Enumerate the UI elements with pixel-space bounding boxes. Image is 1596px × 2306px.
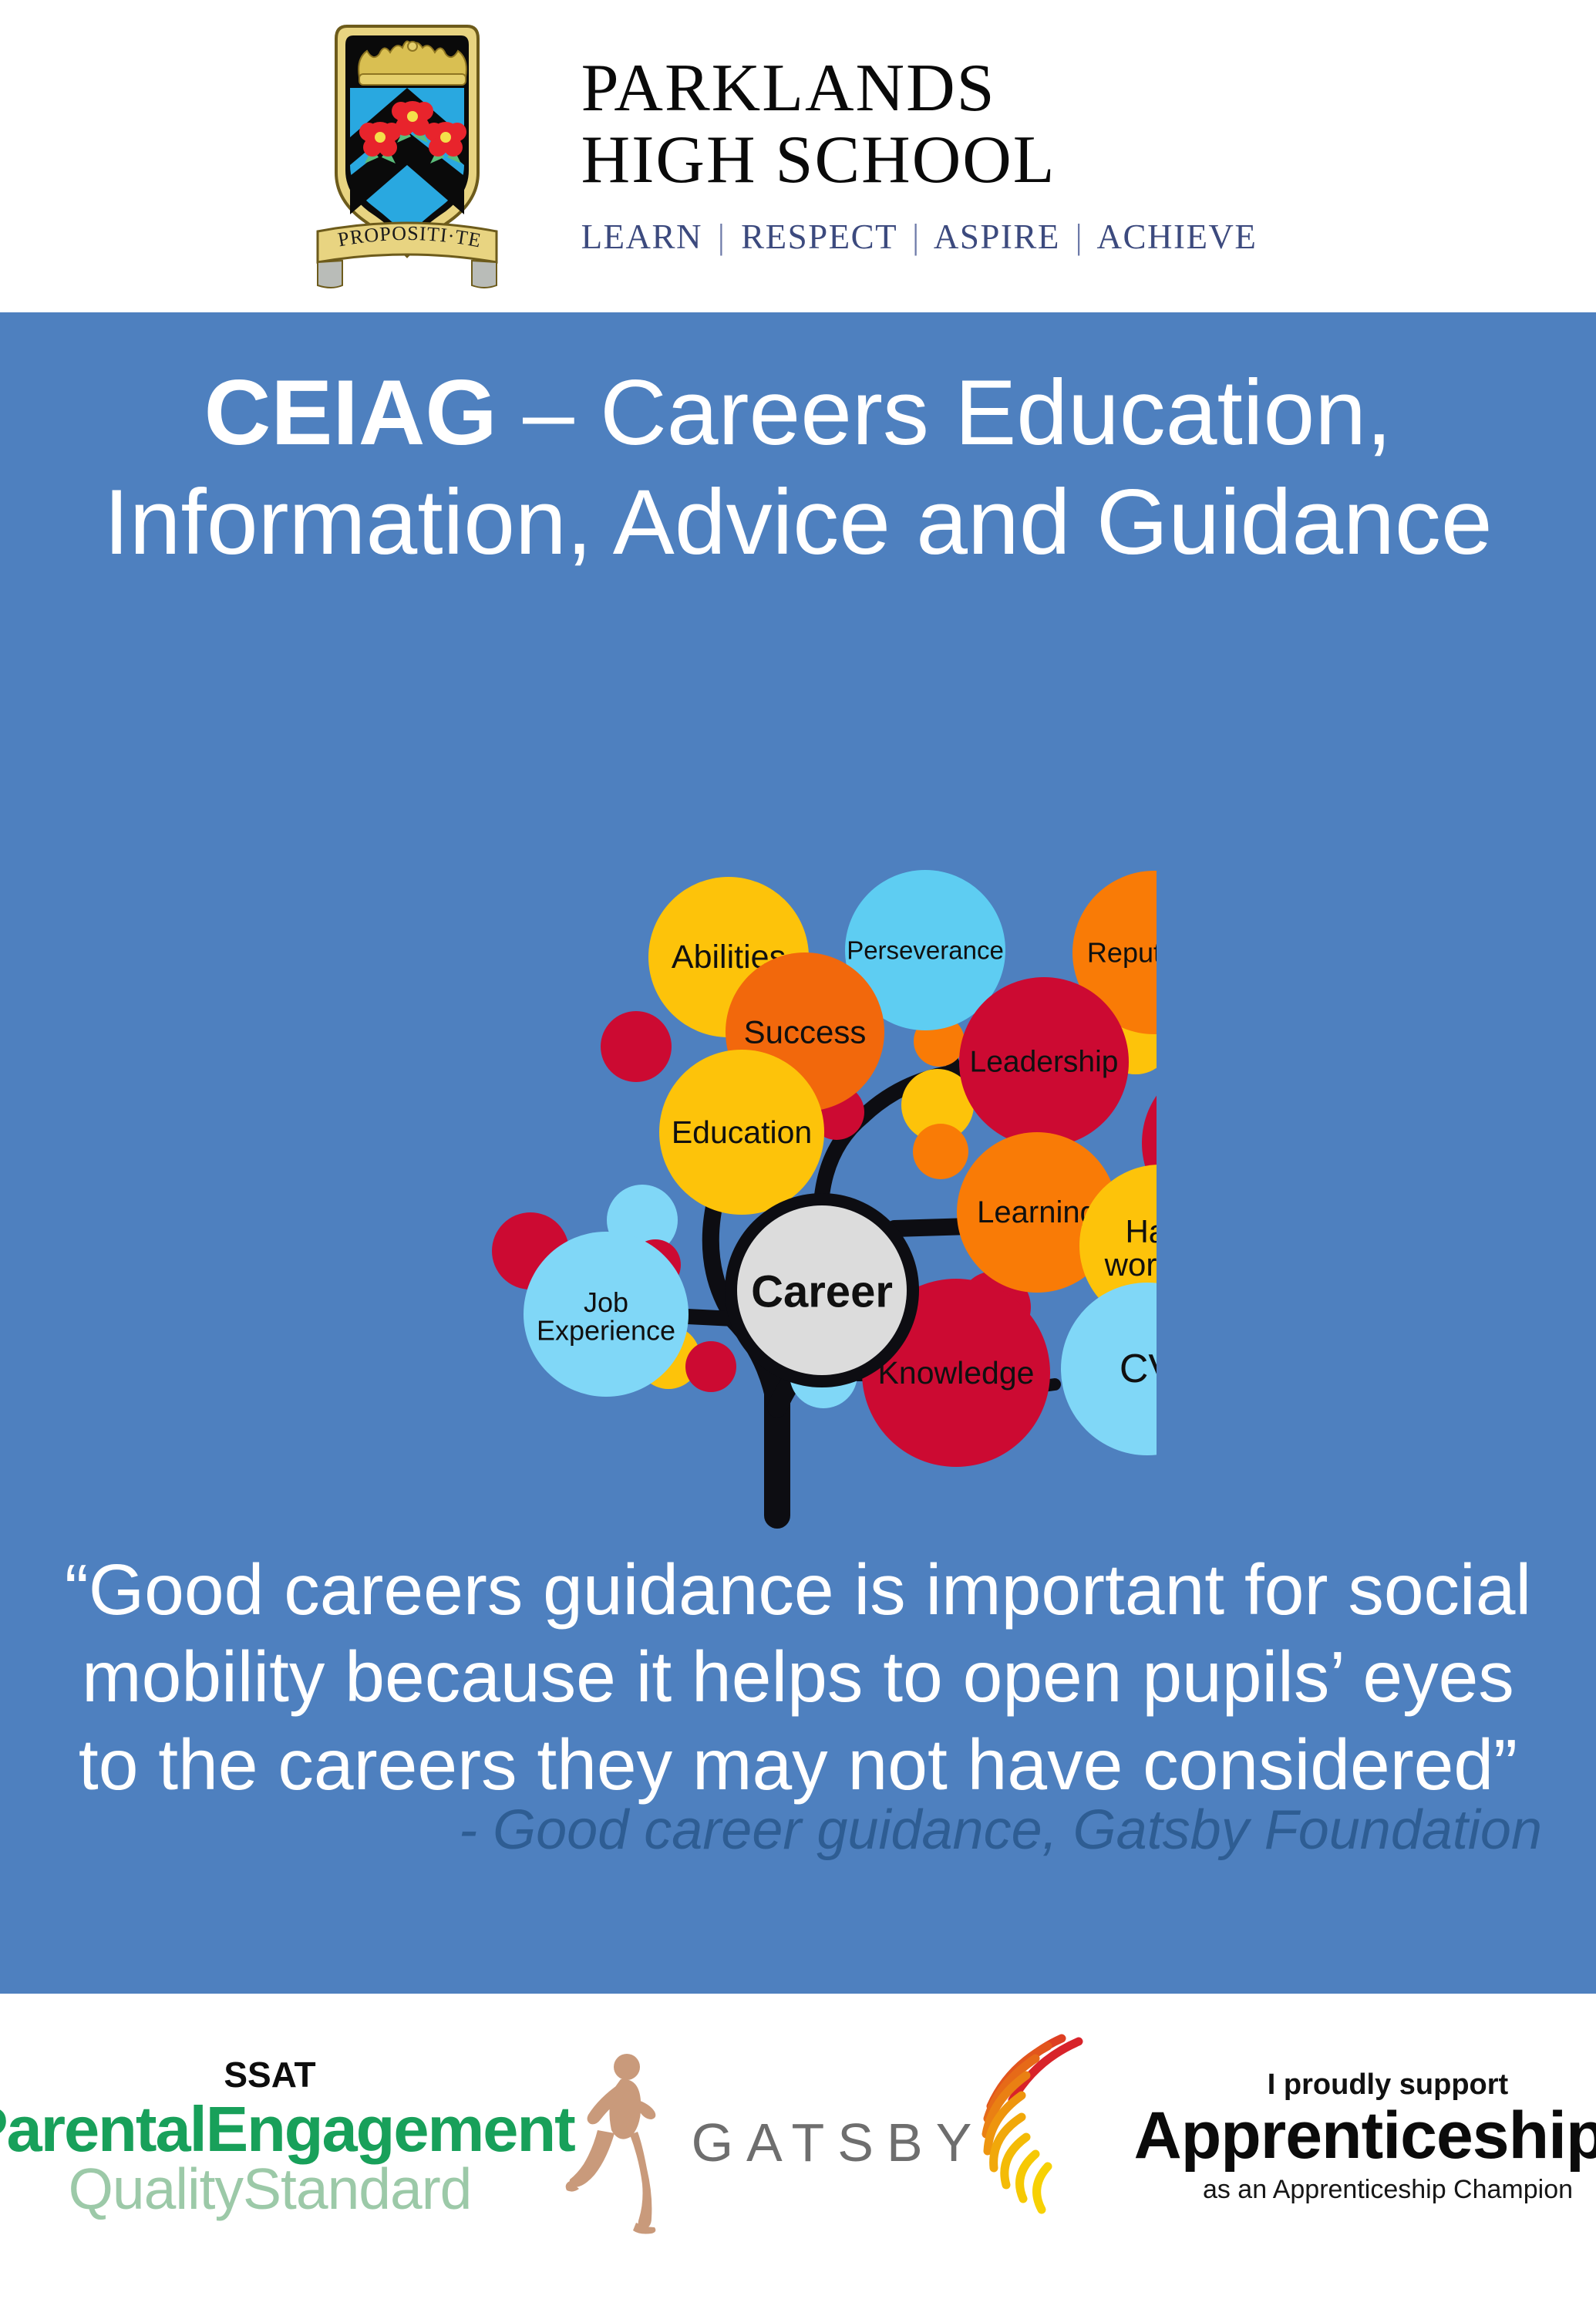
bubble-label: Success xyxy=(744,1014,867,1050)
school-motto: LEARN | RESPECT | ASPIRE | ACHIEVE xyxy=(581,217,1258,257)
accent-dot xyxy=(685,1341,736,1392)
career-center-node: Career xyxy=(725,1193,919,1387)
bubble-label: Reputation xyxy=(1087,937,1157,969)
bubble-label: Perseverance xyxy=(847,936,1004,965)
bubble-label: Education xyxy=(672,1114,812,1150)
title-acronym: CEIAG xyxy=(204,361,497,464)
apprenticeships-wordmark: Apprenticeships xyxy=(1134,2102,1596,2170)
page-footer: SSAT ParentalEngagement QualityStandard xyxy=(0,1994,1596,2306)
motto-word-learn: LEARN xyxy=(581,217,703,256)
bubble-education: Education xyxy=(659,1050,824,1215)
quote-text: “Good careers guidance is important for … xyxy=(0,1546,1596,1809)
motto-separator-2: | xyxy=(907,217,926,256)
bubble-label: Knowledge xyxy=(878,1355,1035,1391)
school-name-block: PARKLANDS HIGH SCHOOL LEARN | RESPECT | … xyxy=(581,56,1258,256)
motto-word-aspire: ASPIRE xyxy=(934,217,1060,256)
ssat-logo-text: SSAT ParentalEngagement QualityStandard xyxy=(0,2057,574,2218)
accent-dot xyxy=(601,1011,672,1082)
ssat-quality-standard: QualityStandard xyxy=(0,2159,574,2219)
school-name-line-2: HIGH SCHOOL xyxy=(581,127,1258,194)
gatsby-logo: GATSBY xyxy=(540,1994,1010,2306)
career-tree-diagram: AbilitiesPerseveranceReputationSuccessLe… xyxy=(463,845,1157,1554)
school-name-line-1: PARKLANDS xyxy=(581,56,1258,122)
apprenticeships-text: I proudly support Apprenticeships as an … xyxy=(1134,2069,1596,2205)
motto-word-achieve: ACHIEVE xyxy=(1096,217,1257,256)
ssat-acronym: SSAT xyxy=(0,2057,574,2092)
bubble-job-experience: JobExperience xyxy=(524,1232,689,1397)
bubble-label: CV xyxy=(1120,1347,1157,1391)
bubble-label: Leadership xyxy=(970,1046,1119,1079)
school-crest-logo: PROPOSITI·TENAX xyxy=(299,22,546,292)
bubble-cv: CV xyxy=(1061,1283,1157,1455)
bubble-leadership: Leadership xyxy=(959,977,1129,1147)
accent-dot xyxy=(913,1124,968,1179)
gatsby-logo-inner: GATSBY xyxy=(565,2044,985,2240)
bubble-label: Learning xyxy=(977,1195,1097,1229)
apprenticeships-tagline-top: I proudly support xyxy=(1134,2069,1596,2102)
ssat-logo: SSAT ParentalEngagement QualityStandard xyxy=(0,1994,540,2306)
apprenticeships-tagline-sub: as an Apprenticeship Champion xyxy=(1134,2174,1596,2206)
header-inner: PROPOSITI·TENAX PARKLANDS HIGH SCHOOL LE… xyxy=(299,22,1258,292)
motto-word-respect: RESPECT xyxy=(741,217,897,256)
page-title: CEIAG – Careers Education, Information, … xyxy=(0,359,1596,577)
blue-content-panel: CEIAG – Careers Education, Information, … xyxy=(0,312,1596,1994)
apprenticeships-logo: I proudly support Apprenticeships as an … xyxy=(1010,1994,1596,2306)
poster-page: PROPOSITI·TENAX PARKLANDS HIGH SCHOOL LE… xyxy=(0,0,1596,2306)
title-dash: – xyxy=(497,361,600,464)
gatsby-runner-icon xyxy=(565,2044,681,2240)
apprenticeships-logo-inner: I proudly support Apprenticeships as an … xyxy=(965,2020,1596,2255)
quote-attribution: - Good career guidance, Gatsby Foundatio… xyxy=(0,1797,1596,1863)
apprenticeships-swirl-icon xyxy=(965,2020,1126,2255)
gatsby-wordmark: GATSBY xyxy=(692,2112,985,2173)
career-center-label: Career xyxy=(751,1267,893,1317)
ssat-parental-engagement: ParentalEngagement xyxy=(0,2097,574,2163)
page-header: PROPOSITI·TENAX PARKLANDS HIGH SCHOOL LE… xyxy=(0,0,1596,312)
motto-separator-3: | xyxy=(1070,217,1089,256)
motto-separator-1: | xyxy=(712,217,732,256)
